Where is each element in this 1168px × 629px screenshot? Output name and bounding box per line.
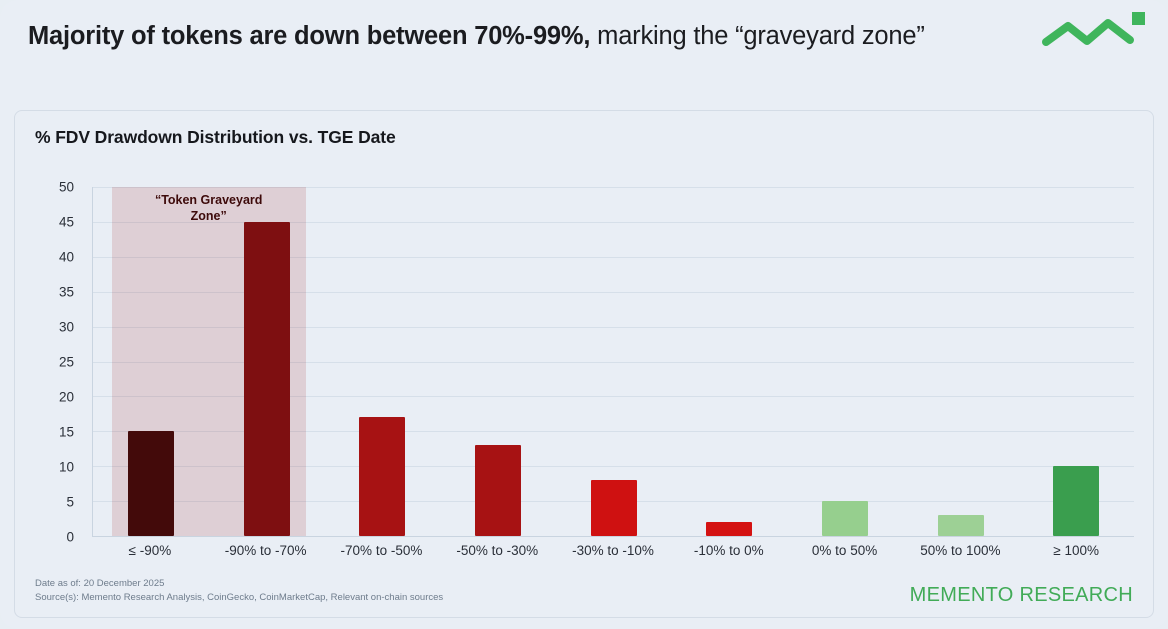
footnote-source: Source(s): Memento Research Analysis, Co… [35, 591, 443, 605]
x-axis-tick: 0% to 50% [787, 543, 903, 558]
x-axis-tick: -90% to -70% [208, 543, 324, 558]
y-axis-tick: 20 [59, 390, 74, 405]
bar-slot [93, 187, 209, 536]
page-title: Majority of tokens are down between 70%-… [28, 20, 1018, 54]
x-axis-tick: -70% to -50% [324, 543, 440, 558]
bar-2[interactable] [244, 222, 290, 536]
y-axis-tick: 0 [66, 530, 74, 545]
gridline [93, 536, 1134, 537]
chart-card: % FDV Drawdown Distribution vs. TGE Date… [14, 110, 1154, 618]
bar-6[interactable] [706, 522, 752, 536]
chart-plot-area: 50454035302520151050 “Token Graveyard Zo… [36, 187, 1134, 577]
memento-logo-icon [1040, 8, 1150, 54]
brand-wordmark: MEMENTO RESEARCH [910, 584, 1133, 607]
y-axis-tick: 10 [59, 460, 74, 475]
bar-slot [209, 187, 325, 536]
headline-bold: Majority of tokens are down between 70%-… [28, 22, 590, 50]
y-axis-tick: 40 [59, 250, 74, 265]
plot-canvas: “Token Graveyard Zone” [92, 187, 1134, 537]
bar-3[interactable] [359, 417, 405, 536]
bar-5[interactable] [591, 480, 637, 536]
chart-footnote: Date as of: 20 December 2025 Source(s): … [35, 577, 443, 605]
bar-slot [787, 187, 903, 536]
bar-slot [324, 187, 440, 536]
bar-slot [903, 187, 1019, 536]
footnote-date: Date as of: 20 December 2025 [35, 577, 443, 591]
y-axis-tick: 50 [59, 180, 74, 195]
x-axis-tick: -30% to -10% [555, 543, 671, 558]
x-axis-tick: 50% to 100% [902, 543, 1018, 558]
x-axis-tick: -50% to -30% [439, 543, 555, 558]
y-axis-tick: 35 [59, 285, 74, 300]
bar-9[interactable] [1053, 466, 1099, 536]
chart-title: % FDV Drawdown Distribution vs. TGE Date [35, 127, 396, 148]
bar-slot [440, 187, 556, 536]
headline-rest: marking the “graveyard zone” [590, 22, 924, 50]
bar-8[interactable] [938, 515, 984, 536]
x-axis-tick: ≤ -90% [92, 543, 208, 558]
bar-slot [1018, 187, 1134, 536]
bar-series [93, 187, 1134, 536]
bar-1[interactable] [128, 431, 174, 536]
slide-header: Majority of tokens are down between 70%-… [0, 0, 1168, 104]
x-axis-tick: ≥ 100% [1018, 543, 1134, 558]
x-axis-tick: -10% to 0% [671, 543, 787, 558]
bar-slot [671, 187, 787, 536]
slide-root: Majority of tokens are down between 70%-… [0, 0, 1168, 629]
y-axis-tick: 25 [59, 355, 74, 370]
y-axis-tick: 30 [59, 320, 74, 335]
y-axis-tick: 5 [66, 495, 74, 510]
y-axis-tick: 45 [59, 215, 74, 230]
y-axis: 50454035302520151050 [36, 187, 82, 537]
bar-slot [556, 187, 672, 536]
y-axis-tick: 15 [59, 425, 74, 440]
x-axis: ≤ -90%-90% to -70%-70% to -50%-50% to -3… [92, 543, 1134, 558]
bar-4[interactable] [475, 445, 521, 536]
bar-7[interactable] [822, 501, 868, 536]
